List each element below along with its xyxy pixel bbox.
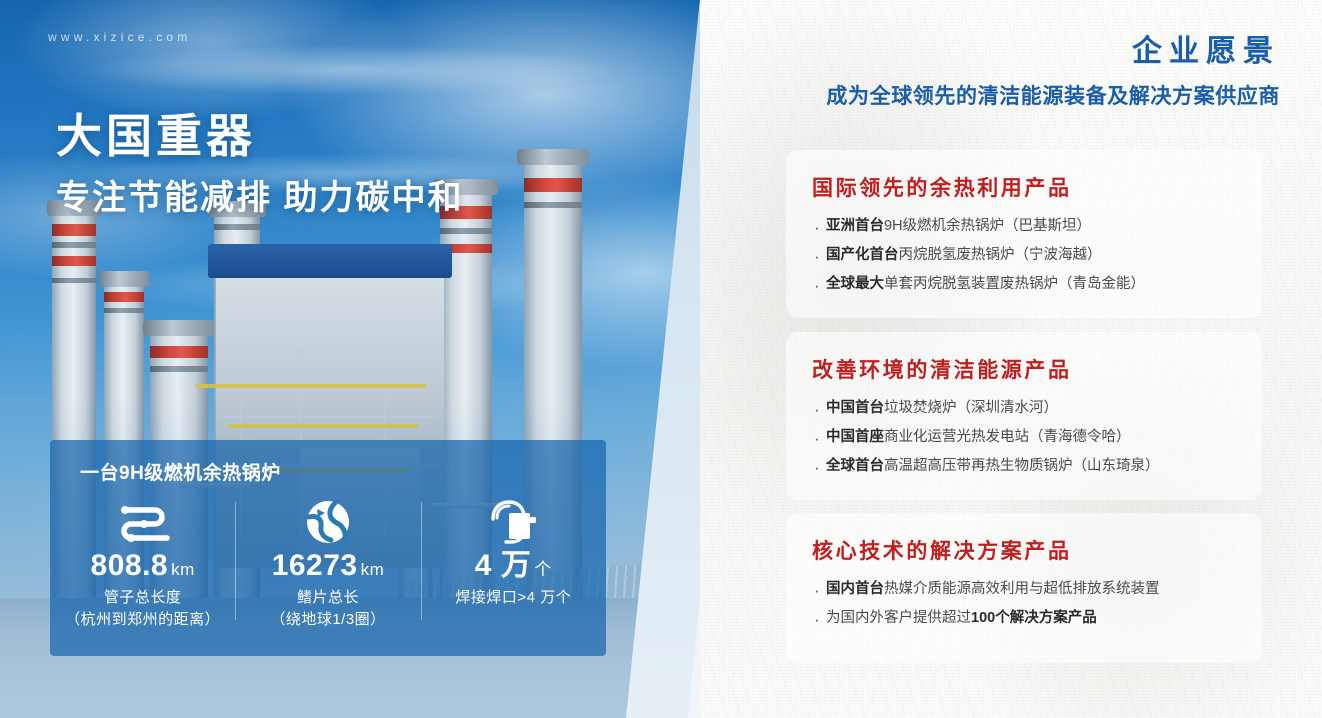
stat-value: 4 万个 [421,550,606,582]
bullet-strong: 国内首台 [826,581,884,597]
card-heading: 国际领先的余热利用产品 [812,172,1236,202]
bullet-rest: 为国内外客户提供超过 [826,610,971,626]
coil-pipe-icon [50,498,235,546]
list-item: 国产化首台丙烷脱氢废热锅炉（宁波海越） [812,245,1236,267]
vision-card-3[interactable]: 核心技术的解决方案产品 国内首台热媒介质能源高效利用与超低排放系统装置 为国内外… [786,513,1262,663]
bullet-strong: 全球首台 [826,458,884,474]
bullet-strong: 中国首座 [826,429,884,445]
hero-subheadline: 专注节能减排 助力碳中和 [56,170,463,219]
card-heading: 核心技术的解决方案产品 [812,535,1236,565]
bullet-strong-tail: 100个解决方案产品 [971,610,1097,626]
card-heading: 改善环境的清洁能源产品 [812,354,1236,384]
stat-unit: km [361,560,385,579]
stat-item-fin-length: 16273km 鳍片总长 （绕地球1/3圈） [235,498,420,648]
stats-panel: 一台9H级燃机余热锅炉 808.8km 管子总长度 [50,440,606,656]
vision-card-1[interactable]: 国际领先的余热利用产品 亚洲首台9H级燃机余热锅炉（巴基斯坦） 国产化首台丙烷脱… [786,150,1262,318]
stats-row: 808.8km 管子总长度 （杭州到郑州的距离） [50,498,606,648]
slide-root: www.xizice.com 大国重器 专注节能减排 助力碳中和 一台9H级燃机… [0,0,1322,718]
vision-panel: 企业愿景 成为全球领先的清洁能源装备及解决方案供应商 国际领先的余热利用产品 亚… [700,0,1322,718]
hero-photo-panel: www.xizice.com 大国重器 专注节能减排 助力碳中和 一台9H级燃机… [0,0,700,718]
list-item: 为国内外客户提供超过100个解决方案产品 [812,608,1236,630]
stat-unit: km [171,560,195,579]
card-bullet-list: 国内首台热媒介质能源高效利用与超低排放系统装置 为国内外客户提供超过100个解决… [812,579,1236,630]
stat-label-line1: 鳍片总长 [235,586,420,607]
bullet-rest: 热媒介质能源高效利用与超低排放系统装置 [884,581,1160,597]
stat-label-line1: 管子总长度 [50,586,235,607]
card-bullet-list: 中国首台垃圾焚烧炉（深圳清水河） 中国首座商业化运营光热发电站（青海德令哈） 全… [812,398,1236,477]
bullet-strong: 中国首台 [826,400,884,416]
list-item: 全球首台高温超高压带再热生物质锅炉（山东琦泉） [812,456,1236,478]
bullet-rest: 丙烷脱氢废热锅炉（宁波海越） [899,247,1102,263]
list-item: 全球最大单套丙烷脱氢装置废热锅炉（青岛金能） [812,274,1236,296]
bullet-strong: 国产化首台 [826,247,899,263]
stats-panel-title: 一台9H级燃机余热锅炉 [80,458,281,485]
stat-label-line2: （杭州到郑州的距离） [50,608,235,629]
bullet-strong: 全球最大 [826,276,884,292]
bullet-rest: 垃圾焚烧炉（深圳清水河） [884,400,1058,416]
bullet-rest: 商业化运营光热发电站（青海德令哈） [884,429,1131,445]
hero-headline: 大国重器 [56,100,256,166]
stat-value: 808.8km [50,550,235,582]
stat-item-weld-joints: 4 万个 焊接焊口>4 万个 [421,498,606,648]
stat-label-line1: 焊接焊口>4 万个 [421,586,606,607]
vision-card-2[interactable]: 改善环境的清洁能源产品 中国首台垃圾焚烧炉（深圳清水河） 中国首座商业化运营光热… [786,332,1262,500]
list-item: 国内首台热媒介质能源高效利用与超低排放系统装置 [812,579,1236,601]
bullet-rest: 单套丙烷脱氢装置废热锅炉（青岛金能） [884,276,1145,292]
stat-label-line2: （绕地球1/3圈） [235,608,420,629]
page-subtitle: 成为全球领先的清洁能源装备及解决方案供应商 [826,80,1280,110]
welding-mask-icon [421,498,606,546]
stat-unit: 个 [534,560,552,579]
card-bullet-list: 亚洲首台9H级燃机余热锅炉（巴基斯坦） 国产化首台丙烷脱氢废热锅炉（宁波海越） … [812,216,1236,295]
stat-item-pipe-length: 808.8km 管子总长度 （杭州到郑州的距离） [50,498,235,648]
list-item: 中国首台垃圾焚烧炉（深圳清水河） [812,398,1236,420]
site-watermark: www.xizice.com [48,30,191,44]
page-title: 企业愿景 [1132,26,1280,70]
list-item: 中国首座商业化运营光热发电站（青海德令哈） [812,427,1236,449]
list-item: 亚洲首台9H级燃机余热锅炉（巴基斯坦） [812,216,1236,238]
bullet-strong: 亚洲首台 [826,218,884,234]
stat-value: 16273km [235,550,420,582]
bullet-rest: 9H级燃机余热锅炉（巴基斯坦） [884,218,1091,234]
globe-icon [235,498,420,546]
bullet-rest: 高温超高压带再热生物质锅炉（山东琦泉） [884,458,1160,474]
